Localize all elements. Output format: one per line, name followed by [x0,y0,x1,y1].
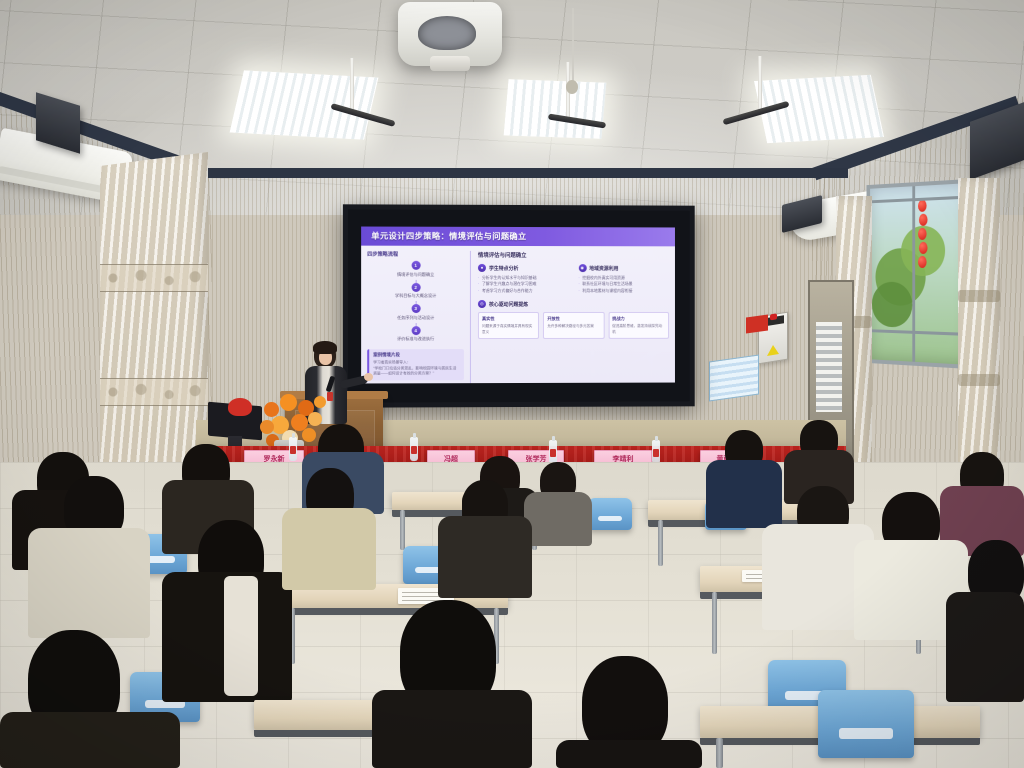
ceiling-wire [572,8,574,82]
card-body: 促进高阶思维，激发持续探究动机 [612,324,665,335]
criteria-card: 真实性 问题来源于真实情境并具有现实意义 [478,312,539,339]
step-number: 1 [411,261,420,270]
step-label: 任务序列与活动设计 [397,315,434,321]
bullet: 考虑学习方式偏好与合作能力 [478,288,569,294]
shirt-detail [224,576,258,696]
step-number: 2 [411,282,420,291]
step-label: 学科目标与大概念设计 [395,293,436,299]
target-icon: ◎ [478,300,486,308]
step-flow: 1 情境评估与问题确立 2 学科目标与大概念设计 3 任务序列与活动设计 4 评… [367,261,464,344]
flow-heading: 四步策略流程 [367,251,464,258]
slide-title: 单元设计四步策略：情境评估与问题确立 [361,227,675,247]
water-bottle [410,437,418,461]
globe-icon: ◉ [578,264,586,272]
step-label: 评价标准与改进执行 [397,336,434,342]
bullet: 利用本地素材与课程内容衔接 [578,288,669,294]
chair[interactable] [588,498,632,530]
section-core-question: ◎ 核心驱动问题提炼 真实性 问题来源于真实情境并具有现实意义 开放性 允许多种… [478,300,669,339]
desk-leg [716,738,723,768]
card-title: 真实性 [482,316,535,322]
step-number: 4 [411,326,420,335]
card-title: 挑战力 [612,316,665,322]
window-curtain-right [958,178,1000,478]
callout-line: "学校门口垃圾分类混乱，影响校园环境与居民生活质量——如何设计有效的分类方案？" [373,366,460,378]
red-decoration [228,398,252,416]
section-student-analysis: ● 学生特点分析 分析学生的认知水平与知识基础 了解学生兴趣点与潜在学习困难 考… [478,264,569,294]
step-number: 3 [411,304,420,313]
warning-triangle-icon [767,344,779,356]
classroom-photo: 单元设计四步策略：情境评估与问题确立 四步策略流程 1 情境评估与问题确立 2 … [0,0,1024,768]
ceiling-sensor-icon [566,80,578,94]
ceiling-ac-unit-icon [398,2,502,66]
right-heading: 情境评估与问题确立 [478,251,669,259]
card-body: 允许多种解决路径与多元答案 [547,324,600,329]
card-body: 问题来源于真实情境并具有现实意义 [482,324,535,335]
ceiling-fan-pole [758,56,762,110]
water-bottle [549,440,557,464]
panel-light-icon [230,70,379,139]
card-title: 开放性 [547,316,600,322]
door-louver [816,322,842,412]
section-regional-resources: ◉ 地域资源利用 挖掘校内外真实可用资源 联系社区环境与日常生活场景 利用本地素… [578,264,669,294]
back-cornice [196,168,848,178]
criteria-card: 开放性 允许多种解决路径与多元答案 [543,312,604,339]
schedule-notice-board [709,354,759,401]
panel-light-icon [504,79,607,138]
projection-screen: 单元设计四步策略：情境评估与问题确立 四步策略流程 1 情境评估与问题确立 2 … [343,204,695,407]
fire-alarm-icon [746,314,768,333]
slide-left-column: 四步策略流程 1 情境评估与问题确立 2 学科目标与大概念设计 3 任务序列与活… [367,251,464,384]
desk-leg [400,510,405,550]
water-bottle [652,440,660,464]
desk-leg [712,592,717,654]
desk-leg [658,520,663,566]
section-title: 学生特点分析 [489,264,518,271]
left-window-curtain [100,152,208,472]
chair[interactable] [818,690,914,758]
water-bottle [289,437,297,461]
ceiling-fan-pole [350,58,354,114]
step-label: 情境评估与问题确立 [397,271,434,277]
case-callout: 案例情境片段 学习者真实场景导入： "学校门口垃圾分类混乱，影响校园环境与居民生… [367,349,464,381]
user-icon: ● [478,264,486,272]
monitor-stand [228,436,242,446]
section-title: 地域资源利用 [589,265,618,272]
slide-right-column: 情境评估与问题确立 ● 学生特点分析 分析学生的认知水平与知识基础 了解学生兴趣… [470,251,669,383]
criteria-card: 挑战力 促进高阶思维，激发持续探究动机 [608,312,669,339]
callout-title: 案例情境片段 [373,352,460,358]
slide-content: 单元设计四步策略：情境评估与问题确立 四步策略流程 1 情境评估与问题确立 2 … [361,227,675,384]
section-title: 核心驱动问题提炼 [489,301,528,308]
